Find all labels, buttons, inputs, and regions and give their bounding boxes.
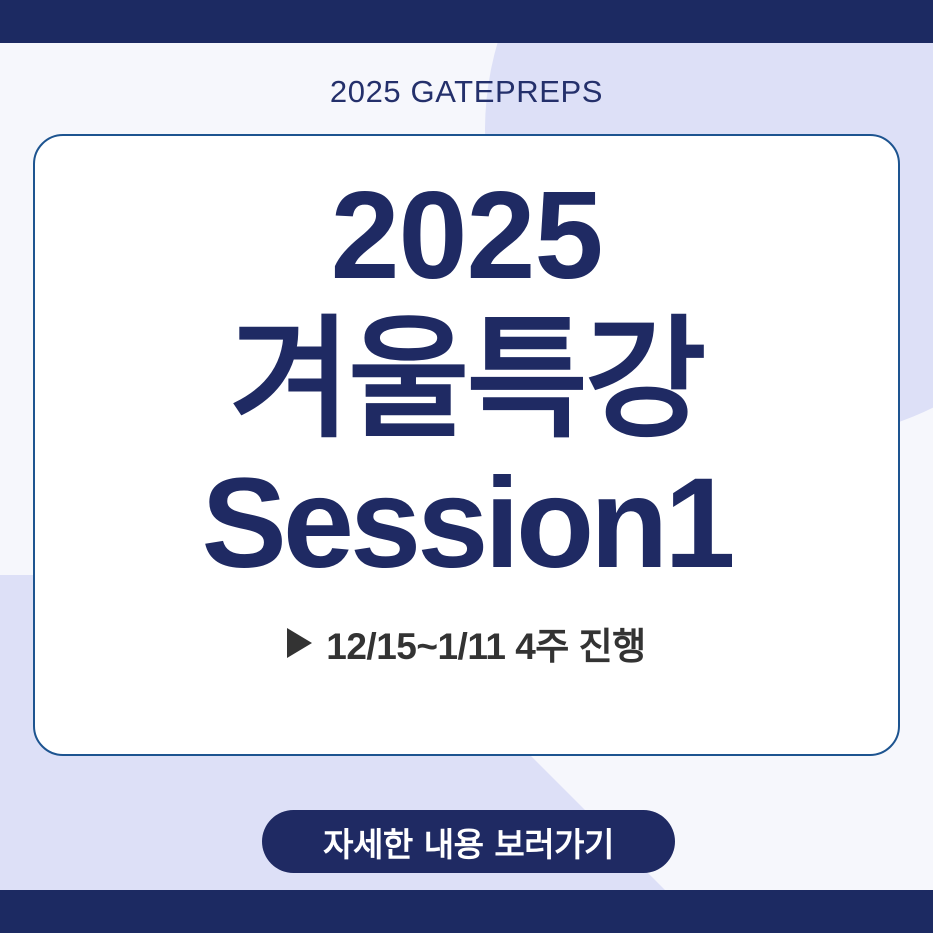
top-navy-band: [0, 0, 933, 43]
hero-korean-title: 겨울특강: [230, 314, 704, 446]
promo-banner: 2025 GATEPREPS 2025 겨울특강 Session1 12/15~…: [0, 0, 933, 933]
hero-year: 2025: [331, 174, 603, 298]
hero-card: 2025 겨울특강 Session1 12/15~1/11 4주 진행: [33, 134, 900, 756]
details-cta-button[interactable]: 자세한 내용 보러가기: [262, 810, 675, 873]
hero-schedule-line: 12/15~1/11 4주 진행: [287, 616, 645, 670]
play-triangle-icon: [287, 628, 312, 658]
bottom-navy-band: [0, 890, 933, 933]
hero-session-title: Session1: [201, 460, 731, 588]
hero-schedule-text: 12/15~1/11 4주 진행: [326, 616, 645, 670]
kicker-text: 2025 GATEPREPS: [0, 74, 933, 110]
